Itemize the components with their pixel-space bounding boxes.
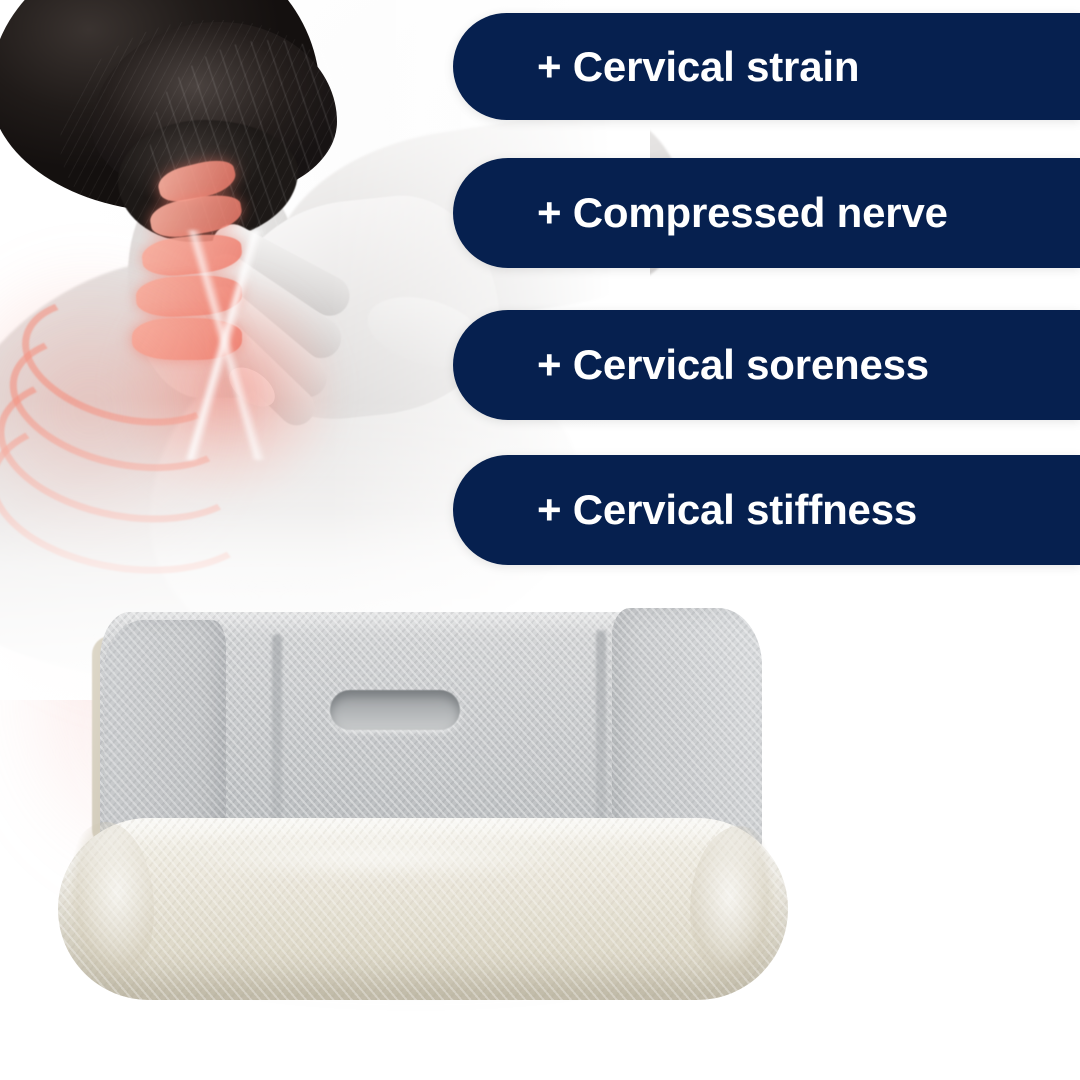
neck-roll-left-cap	[58, 822, 154, 998]
infographic-canvas: + Cervical strain + Compressed nerve + C…	[0, 0, 1080, 1080]
symptom-banner-label: + Cervical strain	[453, 46, 859, 88]
symptom-banner-cervical-strain[interactable]: + Cervical strain	[453, 13, 1080, 120]
cervical-pillow-product	[0, 590, 820, 1030]
symptom-banner-cervical-stiffness[interactable]: + Cervical stiffness	[453, 455, 1080, 565]
pillow-head-cradle-dip	[330, 690, 460, 730]
symptom-banner-label: + Compressed nerve	[453, 192, 948, 234]
neck-roll-highlight	[120, 834, 640, 882]
symptom-banner-compressed-nerve[interactable]: + Compressed nerve	[453, 158, 1080, 268]
neck-roll-right-cap	[690, 826, 788, 996]
symptom-banner-label: + Cervical stiffness	[453, 489, 917, 531]
symptom-banner-cervical-soreness[interactable]: + Cervical soreness	[453, 310, 1080, 420]
symptom-banner-label: + Cervical soreness	[453, 344, 929, 386]
